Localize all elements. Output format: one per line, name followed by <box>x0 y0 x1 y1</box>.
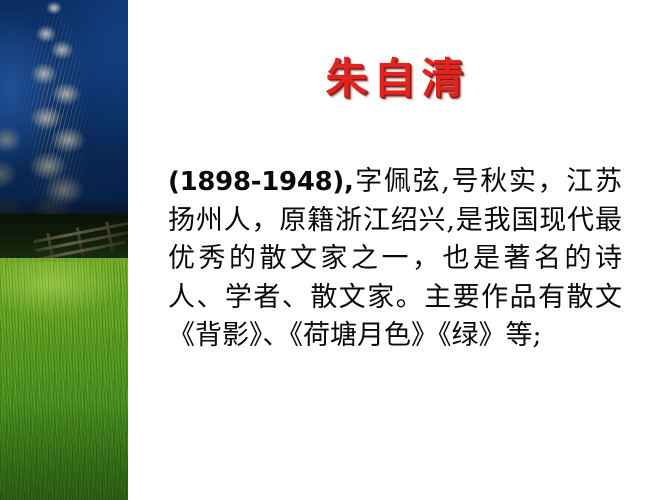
slide-title: 朱自清 <box>128 54 667 104</box>
grass-shadow <box>0 400 128 500</box>
grass-highlight <box>0 262 128 332</box>
slide: 朱自清 (1898-1948),字佩弦,号秋实，江苏扬州人，原籍浙江绍兴,是我国… <box>0 0 667 500</box>
photo-strip <box>0 0 128 500</box>
biography-paragraph: (1898-1948),字佩弦,号秋实，江苏扬州人，原籍浙江绍兴,是我国现代最优… <box>168 163 622 356</box>
lifespan-years: (1898-1948), <box>168 167 354 197</box>
content-area: 朱自清 (1898-1948),字佩弦,号秋实，江苏扬州人，原籍浙江绍兴,是我国… <box>128 0 667 500</box>
